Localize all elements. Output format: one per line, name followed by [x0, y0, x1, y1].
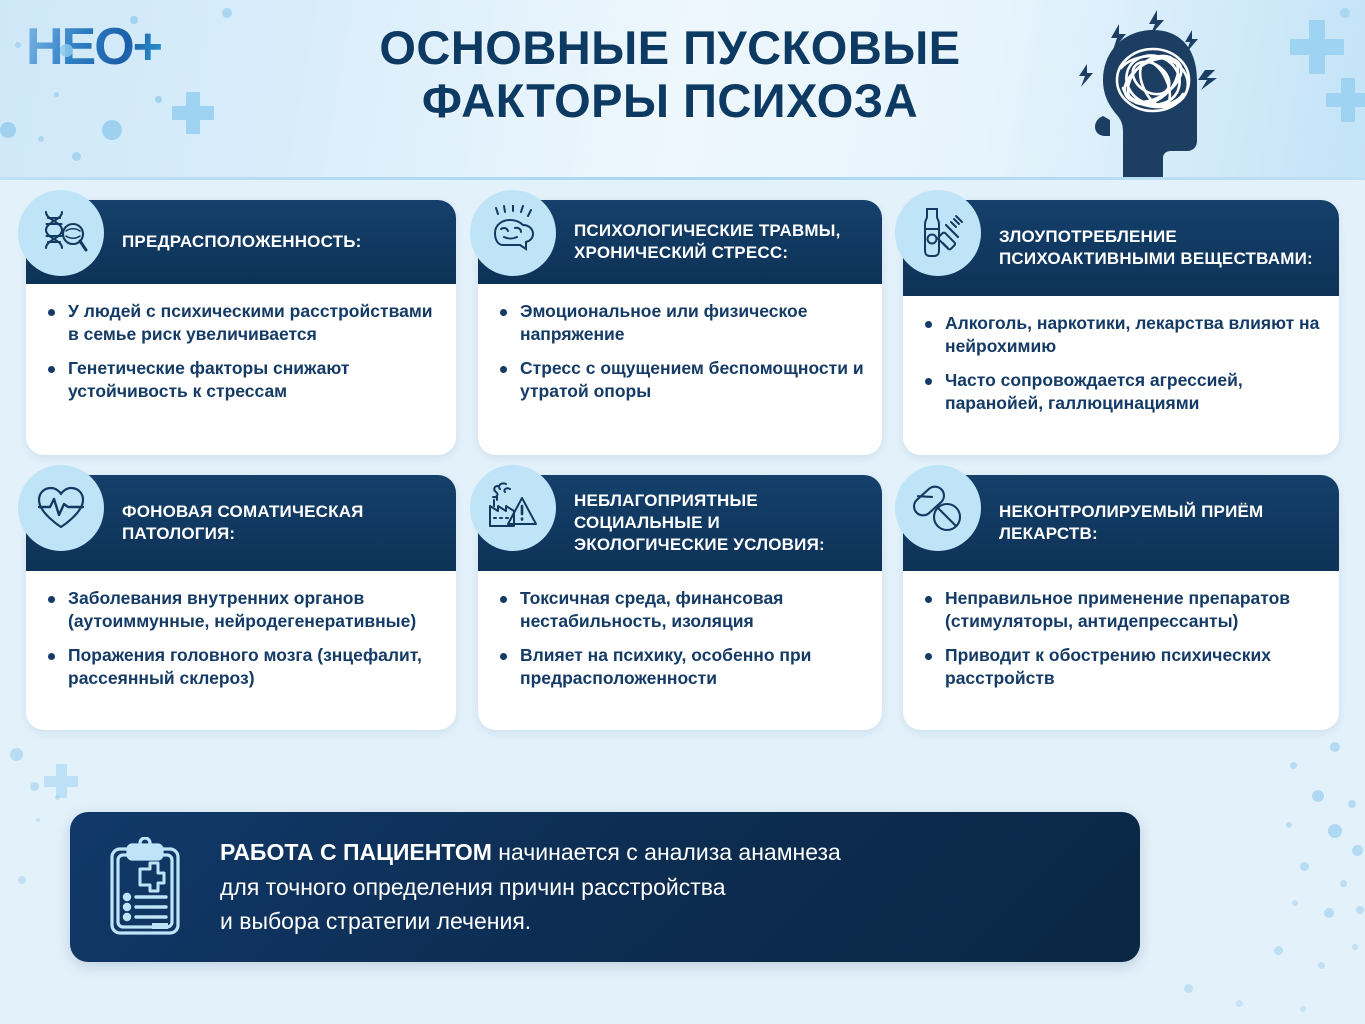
decor-dot [0, 122, 16, 138]
bullet-list: Неправильное применение препаратов (стим… [921, 587, 1321, 691]
bullet-list: Эмоциональное или физическое напряжение … [496, 300, 864, 404]
bullet-list: Токсичная среда, финансовая нестабильнос… [496, 587, 864, 691]
card-title: ПСИХОЛОГИЧЕСКИЕ ТРАВМЫ, ХРОНИЧЕСКИЙ СТРЕ… [574, 220, 868, 264]
list-item: Приводит к обострению психических расстр… [921, 644, 1321, 691]
card-header: НЕБЛАГОПРИЯТНЫЕ СОЦИАЛЬНЫЕ И ЭКОЛОГИЧЕСК… [478, 475, 882, 571]
list-item: Токсичная среда, финансовая нестабильнос… [496, 587, 864, 634]
page-title-line-2: ФАКТОРЫ ПСИХОЗА [300, 75, 1040, 128]
head-with-tangled-brain-icon [1065, 8, 1255, 180]
plus-decor-icon [44, 764, 78, 798]
factor-card-somatic-pathology[interactable]: ФОНОВАЯ СОМАТИЧЕСКАЯ ПАТОЛОГИЯ: Заболева… [26, 475, 456, 730]
factors-grid: ПРЕДРАСПОЛОЖЕННОСТЬ: У людей с психическ… [0, 180, 1365, 750]
card-header: ФОНОВАЯ СОМАТИЧЕСКАЯ ПАТОЛОГИЯ: [26, 475, 456, 571]
banner-line-1: РАБОТА С ПАЦИЕНТОМ начинается с анализа … [220, 835, 841, 870]
brand-logo-text: НЕО+ [26, 16, 206, 78]
heart-pulse-icon [18, 465, 104, 551]
decor-dot [155, 96, 162, 103]
card-header: НЕКОНТРОЛИРУЕМЫЙ ПРИЁМ ЛЕКАРСТВ: [903, 475, 1339, 571]
list-item: Эмоциональное или физическое напряжение [496, 300, 864, 347]
plus-decor-icon [1290, 20, 1344, 74]
card-title: ЗЛОУПОТРЕБЛЕНИЕ ПСИХОАКТИВНЫМИ ВЕЩЕСТВАМ… [999, 226, 1325, 270]
card-body: Эмоциональное или физическое напряжение … [478, 284, 882, 418]
page-title-line-1: ОСНОВНЫЕ ПУСКОВЫЕ [379, 21, 960, 74]
decor-dot [38, 136, 44, 142]
card-title: ПРЕДРАСПОЛОЖЕННОСТЬ: [122, 231, 362, 253]
card-title: НЕБЛАГОПРИЯТНЫЕ СОЦИАЛЬНЫЕ И ЭКОЛОГИЧЕСК… [574, 490, 868, 555]
list-item: Алкоголь, наркотики, лекарства влияют на… [921, 312, 1321, 359]
factory-warning-icon [470, 465, 556, 551]
clipboard-medical-icon [70, 837, 220, 937]
card-body: Алкоголь, наркотики, лекарства влияют на… [903, 296, 1339, 430]
banner-strong: РАБОТА С ПАЦИЕНТОМ [220, 839, 492, 865]
banner-line-2: для точного определения причин расстройс… [220, 870, 841, 905]
card-header: ПСИХОЛОГИЧЕСКИЕ ТРАВМЫ, ХРОНИЧЕСКИЙ СТРЕ… [478, 200, 882, 284]
factor-card-predisposition[interactable]: ПРЕДРАСПОЛОЖЕННОСТЬ: У людей с психическ… [26, 200, 456, 455]
decor-dot [60, 44, 73, 57]
decor-dot [102, 120, 122, 140]
card-body: Заболевания внутренних органов (аутоимму… [26, 571, 456, 705]
card-title: ФОНОВАЯ СОМАТИЧЕСКАЯ ПАТОЛОГИЯ: [122, 501, 442, 545]
factor-card-trauma-stress[interactable]: ПСИХОЛОГИЧЕСКИЕ ТРАВМЫ, ХРОНИЧЕСКИЙ СТРЕ… [478, 200, 882, 455]
decor-dot [130, 16, 138, 24]
card-title: НЕКОНТРОЛИРУЕМЫЙ ПРИЁМ ЛЕКАРСТВ: [999, 501, 1325, 545]
factor-card-substance-abuse[interactable]: ЗЛОУПОТРЕБЛЕНИЕ ПСИХОАКТИВНЫМИ ВЕЩЕСТВАМ… [903, 200, 1339, 455]
list-item: Неправильное применение препаратов (стим… [921, 587, 1321, 634]
decor-dot [15, 42, 21, 48]
bullet-list: У людей с психическими расстройствами в … [44, 300, 438, 404]
list-item: Часто сопровождается агрессией, паранойе… [921, 369, 1321, 416]
factor-card-uncontrolled-medication[interactable]: НЕКОНТРОЛИРУЕМЫЙ ПРИЁМ ЛЕКАРСТВ: Неправи… [903, 475, 1339, 730]
list-item: Заболевания внутренних органов (аутоимму… [44, 587, 438, 634]
banner-text: РАБОТА С ПАЦИЕНТОМ начинается с анализа … [220, 835, 865, 940]
card-body: У людей с психическими расстройствами в … [26, 284, 456, 418]
bullet-list: Алкоголь, наркотики, лекарства влияют на… [921, 312, 1321, 416]
brand-logo[interactable]: НЕО+ [26, 16, 206, 78]
decor-dot [222, 8, 232, 18]
card-body: Токсичная среда, финансовая нестабильнос… [478, 571, 882, 705]
bullet-list: Заболевания внутренних органов (аутоимму… [44, 587, 438, 691]
list-item: Поражения головного мозга (знцефалит, ра… [44, 644, 438, 691]
card-header: ПРЕДРАСПОЛОЖЕННОСТЬ: [26, 200, 456, 284]
list-item: Влияет на психику, особенно при предрасп… [496, 644, 864, 691]
page-title: ОСНОВНЫЕ ПУСКОВЫЕ ФАКТОРЫ ПСИХОЗА [300, 22, 1040, 127]
decor-dot [72, 152, 81, 161]
banner-rest: начинается с анализа анамнеза [492, 839, 841, 865]
banner-line-3: и выбора стратегии лечения. [220, 904, 841, 939]
plus-decor-icon [1326, 78, 1365, 122]
bottle-syringe-icon [895, 190, 981, 276]
decor-dot [1340, 8, 1350, 18]
dna-magnifier-icon [18, 190, 104, 276]
list-item: У людей с психическими расстройствами в … [44, 300, 438, 347]
card-header: ЗЛОУПОТРЕБЛЕНИЕ ПСИХОАКТИВНЫМИ ВЕЩЕСТВАМ… [903, 200, 1339, 296]
list-item: Стресс с ощущением беспомощности и утрат… [496, 357, 864, 404]
list-item: Генетические факторы снижают устойчивост… [44, 357, 438, 404]
plus-decor-icon [172, 92, 214, 134]
page-header: НЕО+ ОСНОВНЫЕ ПУСКОВЫЕ ФАКТОРЫ ПСИХОЗА [0, 0, 1365, 180]
factor-card-social-ecological[interactable]: НЕБЛАГОПРИЯТНЫЕ СОЦИАЛЬНЫЕ И ЭКОЛОГИЧЕСК… [478, 475, 882, 730]
decor-dot [54, 92, 59, 97]
stressed-brain-icon [470, 190, 556, 276]
summary-banner: РАБОТА С ПАЦИЕНТОМ начинается с анализа … [70, 812, 1140, 962]
card-body: Неправильное применение препаратов (стим… [903, 571, 1339, 705]
pills-icon [895, 465, 981, 551]
